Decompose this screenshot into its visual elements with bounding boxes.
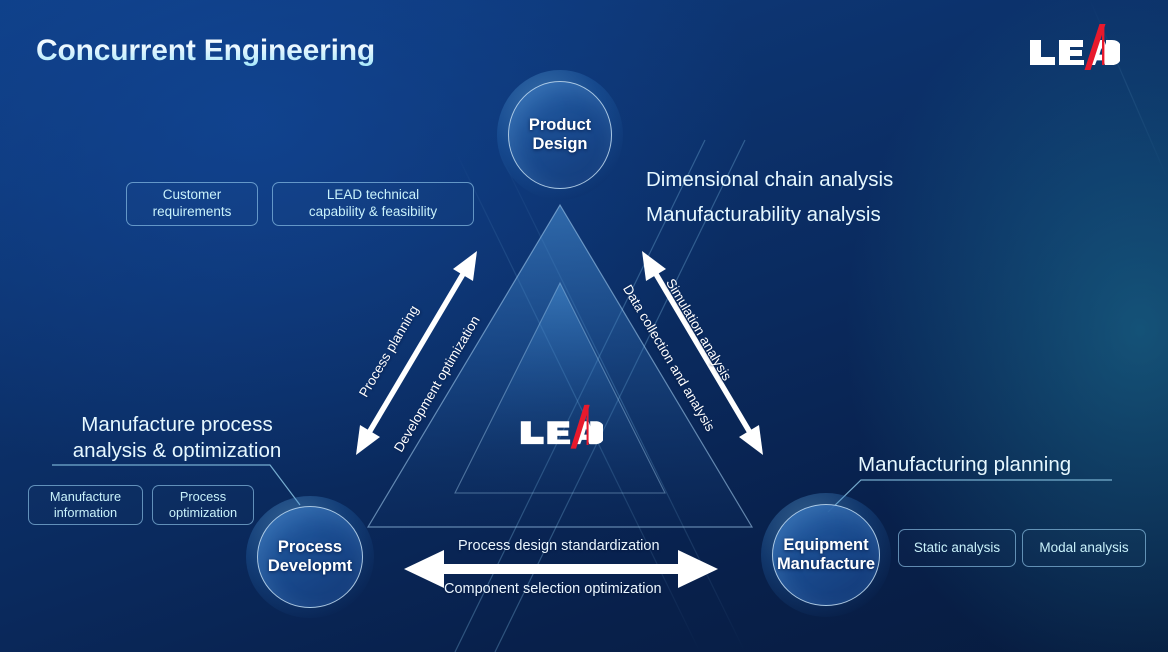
heading-manufacturing-planning: Manufacturing planning — [858, 451, 1071, 478]
node-label: Equipment Manufacture — [777, 536, 875, 575]
node-label: Product Design — [529, 116, 591, 155]
pill-customer-requirements[interactable]: Customer requirements — [126, 182, 258, 226]
pill-modal-analysis[interactable]: Modal analysis — [1022, 529, 1146, 567]
pill-line1: LEAD technical — [327, 187, 419, 204]
heading-manufacture-process-line1: Manufacture process — [52, 411, 302, 438]
pill-line1: Static analysis — [914, 540, 1000, 557]
pill-line1: Modal analysis — [1039, 540, 1128, 557]
lead-logo-header — [1028, 22, 1120, 72]
page-title: Concurrent Engineering — [36, 34, 375, 68]
node-label-line2: Manufacture — [777, 555, 875, 574]
node-equipment-manufacture[interactable]: Equipment Manufacture — [761, 493, 891, 617]
pill-static-analysis[interactable]: Static analysis — [898, 529, 1016, 567]
pill-line1: Customer — [163, 187, 222, 204]
node-label: Process Developmt — [268, 538, 352, 577]
node-label-line1: Product — [529, 116, 591, 135]
arrow-label-process-design-standardization: Process design standardization — [458, 538, 660, 554]
pill-line1: Manufacture — [50, 489, 121, 505]
heading-dimensional-chain-analysis: Dimensional chain analysis — [646, 166, 893, 193]
pill-lead-technical-capability[interactable]: LEAD technical capability & feasibility — [272, 182, 474, 226]
slide-canvas: Concurrent Engineering — [0, 0, 1168, 652]
node-label-line2: Developmt — [268, 557, 352, 576]
pill-line2: capability & feasibility — [309, 204, 437, 221]
heading-manufacture-process-line2: analysis & optimization — [42, 437, 312, 464]
node-label-line2: Design — [529, 135, 591, 154]
pill-line2: optimization — [169, 505, 237, 521]
node-process-development[interactable]: Process Developmt — [246, 496, 374, 618]
lead-logo-center — [519, 395, 603, 453]
pill-line1: Process — [180, 489, 226, 505]
heading-manufacturability-analysis: Manufacturability analysis — [646, 201, 881, 228]
node-product-design[interactable]: Product Design — [497, 70, 623, 200]
pill-process-optimization[interactable]: Process optimization — [152, 485, 254, 525]
pill-line2: requirements — [153, 204, 232, 221]
heading-leader-right — [828, 480, 1112, 512]
pill-manufacture-information[interactable]: Manufacture information — [28, 485, 143, 525]
arrow-label-component-selection-optimization: Component selection optimization — [444, 581, 662, 597]
node-label-line1: Equipment — [777, 536, 875, 555]
pill-line2: information — [54, 505, 117, 521]
node-label-line1: Process — [268, 538, 352, 557]
